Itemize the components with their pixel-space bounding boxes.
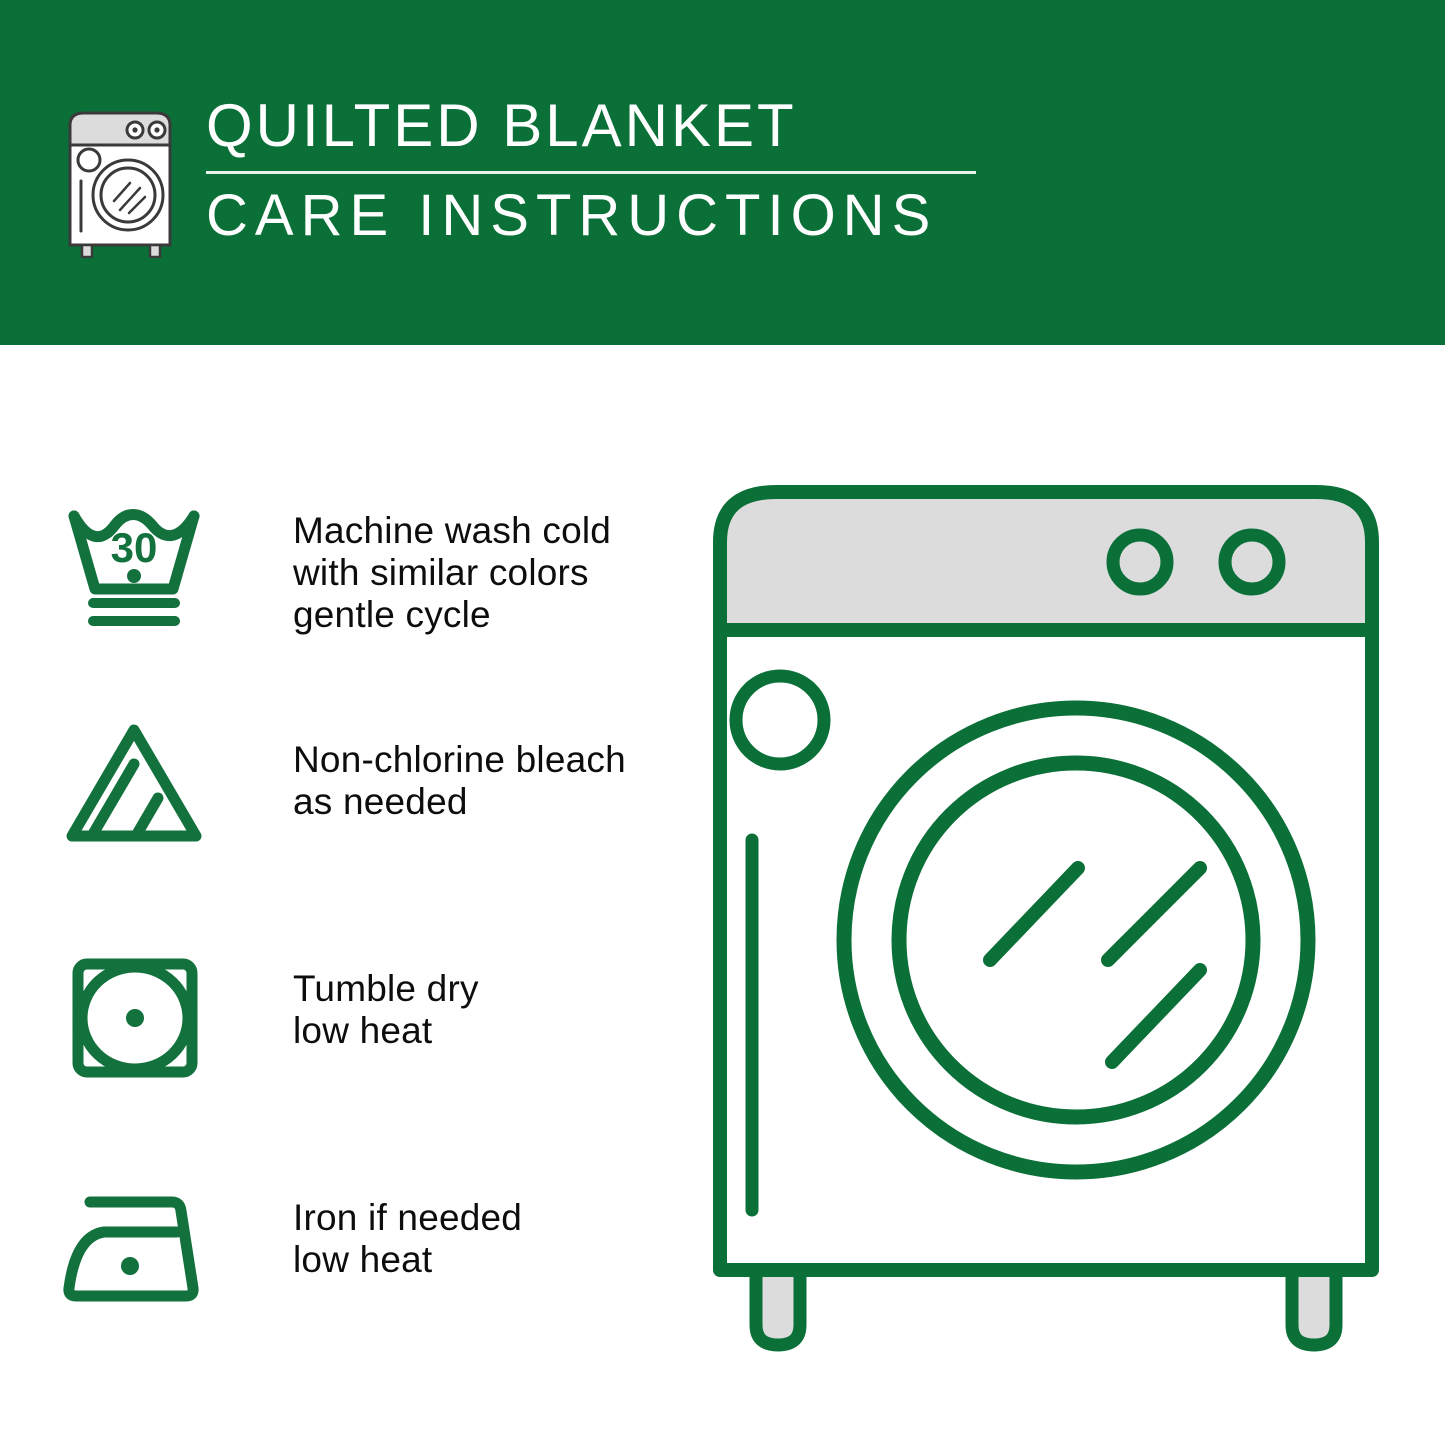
care-text-line: with similar colors xyxy=(293,552,700,594)
care-text-line: Machine wash cold xyxy=(293,510,700,552)
care-instruction-text: Tumble dry low heat xyxy=(245,940,700,1052)
washing-machine-logo-icon xyxy=(62,103,182,258)
care-text-line: low heat xyxy=(293,1239,700,1281)
header-content: QUILTED BLANKET CARE INSTRUCTIONS xyxy=(62,95,1002,265)
care-instruction-row: 30 Machine wash cold with similar colors… xyxy=(60,480,700,710)
tumble-dry-low-heat-icon xyxy=(60,940,245,1123)
front-load-washing-machine-illustration xyxy=(700,470,1420,1370)
iron-low-heat-icon xyxy=(60,1170,245,1359)
non-chlorine-bleach-triangle-icon xyxy=(60,710,245,893)
care-instructions-page: QUILTED BLANKET CARE INSTRUCTIONS 30 xyxy=(0,0,1445,1445)
care-instruction-text: Iron if needed low heat xyxy=(245,1170,700,1281)
page-title: QUILTED BLANKET xyxy=(204,95,1002,157)
care-instruction-row: Iron if needed low heat xyxy=(60,1170,700,1400)
care-text-line: low heat xyxy=(293,1010,700,1052)
header-band: QUILTED BLANKET CARE INSTRUCTIONS xyxy=(0,0,1445,345)
care-text-line: Tumble dry xyxy=(293,968,700,1010)
care-text-line: Iron if needed xyxy=(293,1197,700,1239)
care-instruction-list: 30 Machine wash cold with similar colors… xyxy=(60,480,700,1400)
wash-tub-30-gentle-icon: 30 xyxy=(60,480,245,669)
title-divider xyxy=(206,171,976,174)
header-titles: QUILTED BLANKET CARE INSTRUCTIONS xyxy=(204,95,1002,246)
care-instruction-text: Non-chlorine bleach as needed xyxy=(245,710,700,823)
care-instruction-row: Tumble dry low heat xyxy=(60,940,700,1170)
care-text-line: Non-chlorine bleach xyxy=(293,739,700,781)
care-text-line: as needed xyxy=(293,781,700,823)
care-text-line: gentle cycle xyxy=(293,594,700,636)
care-instruction-row: Non-chlorine bleach as needed xyxy=(60,710,700,940)
care-instruction-text: Machine wash cold with similar colors ge… xyxy=(245,480,700,636)
wash-temperature-value: 30 xyxy=(111,524,158,571)
page-subtitle: CARE INSTRUCTIONS xyxy=(204,186,1002,246)
